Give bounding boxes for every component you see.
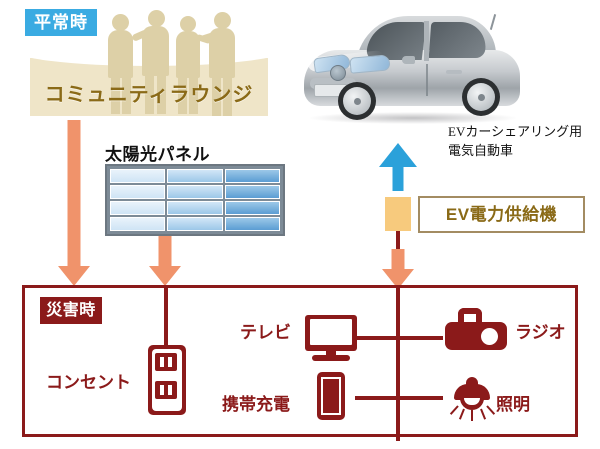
ev-power-supply-box: EV電力供給機 [418, 196, 585, 233]
arrow-head [58, 266, 90, 286]
solar-cell [110, 185, 165, 199]
radio-label: ラジオ [515, 318, 566, 343]
infographic-canvas: 平常時 コミュニティラウンジ 太陽光パネル [0, 0, 600, 449]
arrow-shaft [392, 249, 405, 271]
car-antenna [490, 14, 496, 30]
normal-time-badge: 平常時 [25, 9, 97, 36]
wire-main-vertical [396, 287, 400, 441]
mobile-phone-icon [317, 372, 345, 420]
ev-caption-line-2: 電気自動車 [448, 142, 598, 161]
ev-power-supply-device [385, 197, 411, 231]
disaster-time-badge: 災害時 [40, 297, 102, 324]
orange-arrow-lounge-to-panel [58, 120, 90, 286]
solar-cell [110, 201, 165, 215]
car-emblem-icon [330, 65, 346, 81]
community-lounge-label: コミュニティラウンジ [30, 78, 268, 107]
wire-device-to-arrow [396, 231, 400, 251]
solar-cell [167, 201, 222, 215]
car-side-mirror [402, 56, 415, 64]
solar-cell [110, 217, 165, 231]
power-outlet-icon [148, 345, 186, 415]
wire-branch-lower [355, 396, 443, 400]
arrow-shaft [159, 236, 172, 268]
wire-to-outlet [164, 287, 168, 345]
solar-panel-graphic [105, 164, 285, 236]
arrow-shaft [68, 120, 81, 268]
orange-arrow-ev-to-panel [382, 249, 414, 289]
car-door-handle [446, 70, 462, 74]
solar-cell [225, 185, 280, 199]
arrow-head [149, 266, 181, 286]
radio-icon [445, 308, 507, 350]
car-pillar [424, 21, 429, 61]
lighting-label: 照明 [496, 390, 530, 415]
orange-arrow-solar-to-panel [149, 236, 181, 286]
car-wheel [462, 78, 500, 116]
car-door-seam [426, 64, 428, 96]
solar-cell [167, 217, 222, 231]
solar-cell [225, 217, 280, 231]
solar-panel-label: 太陽光パネル [105, 140, 210, 165]
blue-up-arrow-to-car [380, 143, 416, 191]
arrow-shaft [393, 165, 404, 191]
solar-cell [225, 169, 280, 183]
ev-caption-line-1: EVカーシェアリング用 [448, 123, 598, 142]
tv-label: テレビ [240, 318, 291, 343]
ev-caption: EVカーシェアリング用 電気自動車 [448, 123, 598, 161]
arrow-head [379, 143, 417, 167]
solar-cell [167, 185, 222, 199]
ev-power-supply-label: EV電力供給機 [420, 198, 583, 231]
electric-vehicle-image [296, 8, 534, 130]
solar-cell [225, 201, 280, 215]
lamp-icon [450, 376, 494, 424]
car-wheel [338, 82, 376, 120]
outlet-label: コンセント [46, 368, 131, 393]
television-icon [305, 315, 357, 363]
wire-branch-upper [355, 336, 443, 340]
solar-cell [110, 169, 165, 183]
solar-cell [167, 169, 222, 183]
phone-charging-label: 携帯充電 [222, 390, 290, 415]
